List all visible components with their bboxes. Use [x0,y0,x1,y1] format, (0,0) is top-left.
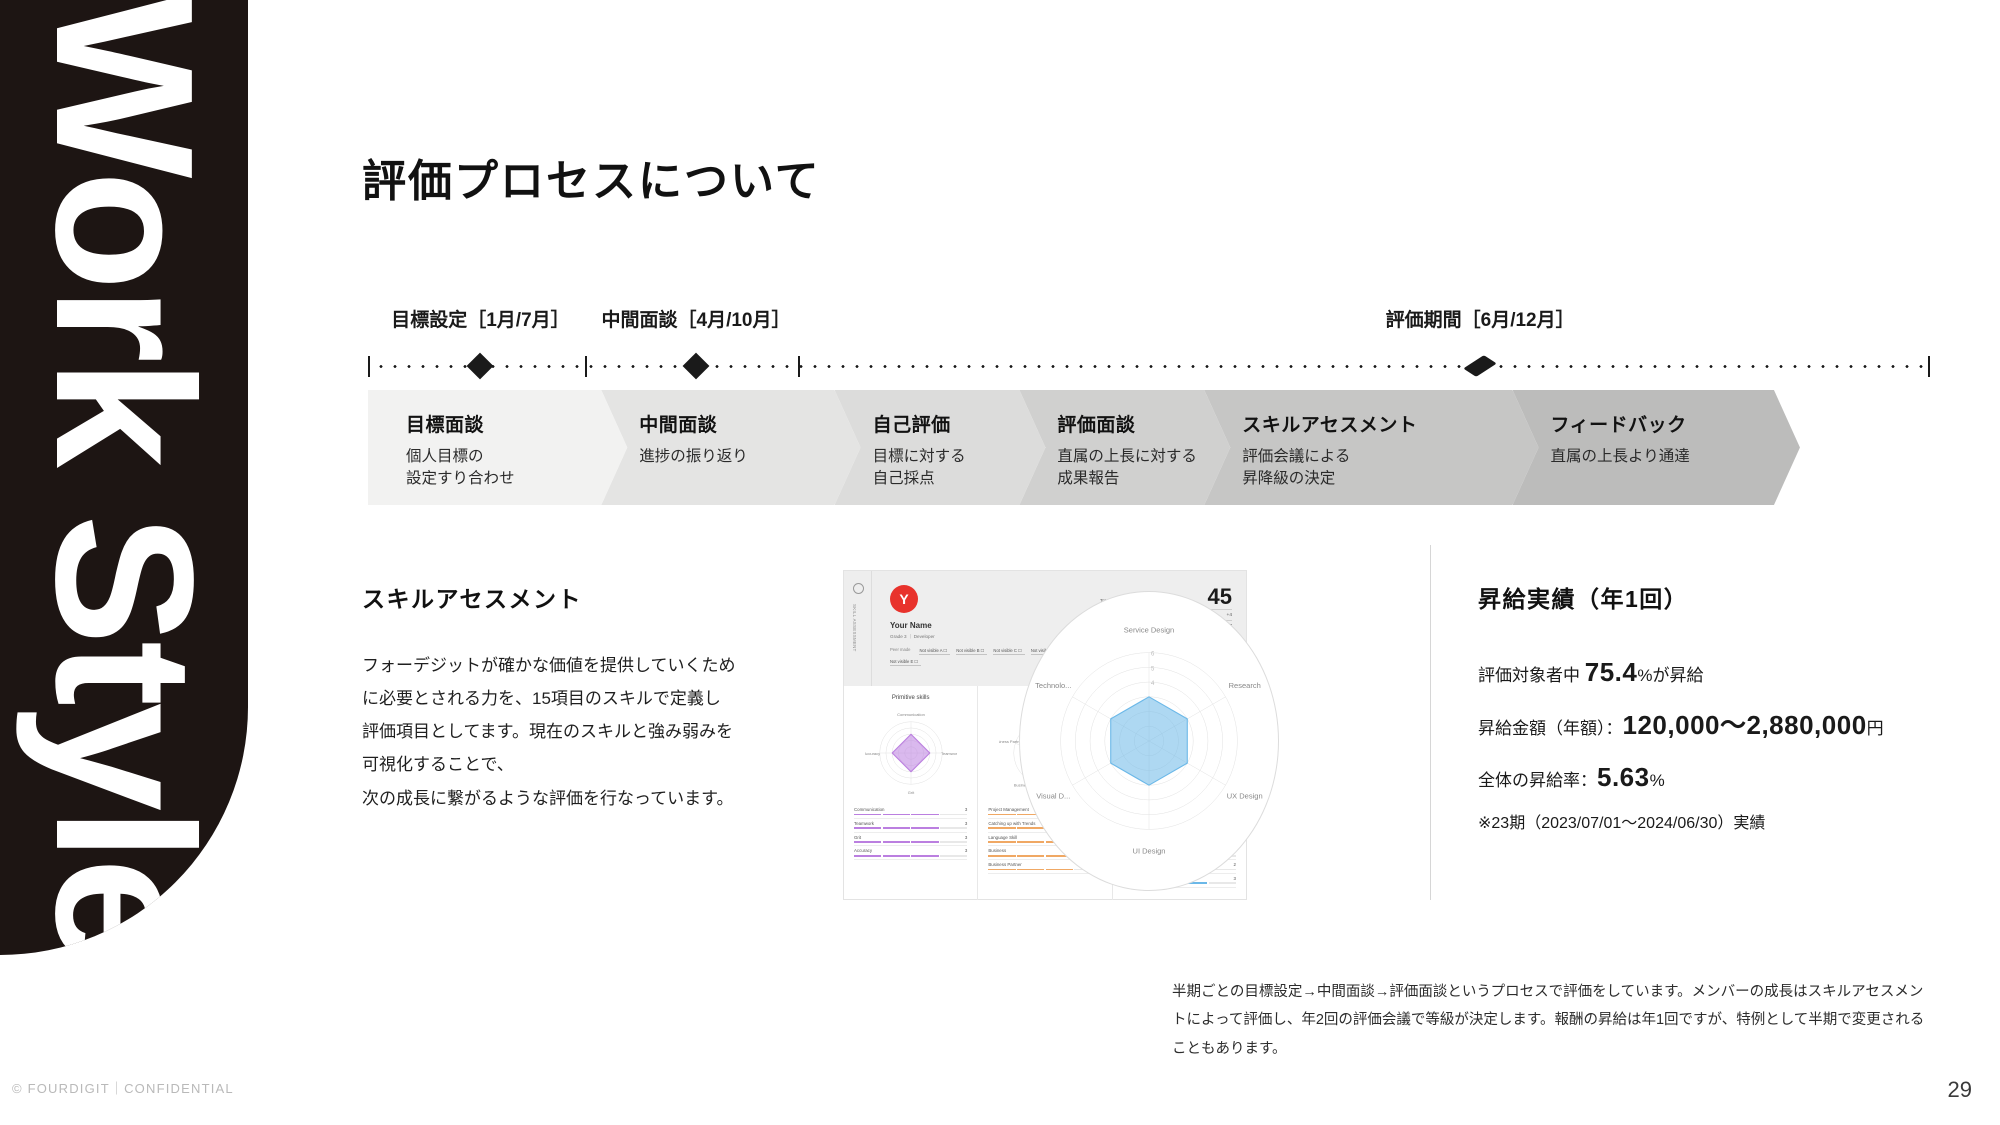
timeline-axis [368,355,1930,377]
skill-item: Visual Design2 [1123,860,1236,874]
skill-item-list: Project Management3Catching up with Tren… [988,805,1101,874]
skill-item-value: 3 [965,807,967,812]
skill-item-name: Catching up with Trends [988,821,1035,826]
timeline-label-2: 評価期間［6月/12月］ [1386,305,1575,332]
radar-axis-label: Business Partner [999,739,1024,744]
radar-axis-label: Service Design [1166,712,1193,717]
timeline-label-1: 中間面談［4月/10月］ [602,305,791,332]
timeline-tick-2 [798,356,800,377]
rail-label: SKILL ASSESSMENT [852,604,857,652]
skill-item-value: 3 [1099,807,1101,812]
skill-panel-title: Creative skills [1123,695,1236,701]
raise-result-row-1: 昇給金額（年額）：120,000〜2,880,000円 [1478,703,1978,749]
peer-chip-list: Peer madeNot visible A ☐Not visible B ☐N… [890,647,1065,666]
skill-item-bars [988,869,1101,871]
score-row-value: 7 [1229,624,1232,629]
skill-assessment-body: フォーデジットが確かな価値を提供していくため に必要とされる力を、15項目のスキ… [362,649,792,815]
process-step-title: 自己評価 [873,410,1046,437]
skill-item-bars [854,827,967,829]
skill-item: Technology3 [1123,874,1236,888]
skill-item-bars [988,814,1101,816]
avatar: Y [890,585,918,613]
skill-assessment-section: スキルアセスメント フォーデジットが確かな価値を提供していくため に必要とされる… [362,580,792,815]
skill-item-value: 3 [965,848,967,853]
raise-results-heading: 昇給実績（年1回） [1478,580,1978,614]
brand-vertical-text: Work Style [26,0,222,955]
timeline-diamond-marker-1 [683,353,710,380]
score-note: Evaluation by profile is based on assess… [1100,637,1232,642]
radar-polygon [1163,734,1201,778]
skill-item-name: UI Design [1123,848,1142,853]
skill-item-value: 3 [1099,862,1101,867]
radar-svg: CommunicationTeamworkGritAccuracy [865,707,957,799]
skill-item: Language Skill3 [988,833,1101,847]
skill-item-value: 3 [1099,821,1101,826]
raise-row-prefix: 昇給金額（年額）： [1478,719,1623,738]
process-step-title: 目標面談 [406,410,627,437]
skill-item-name: Research [1123,821,1142,826]
raise-row-suffix: %が昇給 [1637,666,1703,685]
skill-item-bars [1123,869,1236,871]
skill-item: Teamwork3 [854,819,967,833]
process-step-desc: 目標に対する 自己採点 [873,446,1046,491]
skill-item-name: Language Skill [988,835,1017,840]
skill-panel-1: Primitive skillsCommunicationTeamworkGri… [844,686,978,900]
radar-axis-label: Teamwork [941,751,957,756]
process-step-3: 自己評価目標に対する 自己採点 [835,390,1046,505]
radar-axis-label: Grit [907,790,914,795]
peer-chip-3: Not visible D ☐ [1031,647,1062,655]
skill-item-bars [1123,827,1236,829]
skill-item-name: Accuracy [854,848,872,853]
skill-item-value: 3 [1099,835,1101,840]
process-step-1: 目標面談個人目標の 設定すり合わせ [368,390,627,505]
screenshot-sidebar-rail: SKILL ASSESSMENT [844,571,872,686]
timeline-diamond-marker-2 [1463,355,1496,377]
process-step-4: 評価面談直属の上長に対する 成果報告 [1019,390,1230,505]
score-row-0: Primary+4 [1100,610,1232,621]
skill-item-value: 3 [965,835,967,840]
skill-item-value: 3 [1234,876,1236,881]
radar-svg: Service DesignResearchUX DesignUI Design… [1133,707,1225,799]
peer-chip-0: Not visible A ☐ [919,647,950,655]
raise-row-suffix: 円 [1867,719,1884,738]
skill-item: Business Partner3 [988,860,1101,874]
skill-panel-2: Basic skillsProject ManagementPlanningLa… [978,686,1112,900]
radar-axis-label: Visual Design [1133,771,1157,776]
skill-panel-radar: Project ManagementPlanningLanguage Skill… [988,705,1101,801]
vertical-divider [1430,545,1431,900]
timeline: 目標設定［1月/7月］中間面談［4月/10月］評価期間［6月/12月］ [368,305,1930,375]
skill-item-name: Business [988,848,1006,853]
timeline-tick-1 [585,356,587,377]
slide-root: Work Style 評価プロセスについて 目標設定［1月/7月］中間面談［4月… [0,0,2000,1125]
skill-panel-radar: Service DesignResearchUX DesignUI Design… [1123,705,1236,801]
clock-icon [853,583,864,594]
skill-item-value: 3 [1099,848,1101,853]
radar-axis-label: UX Design [1204,771,1223,776]
skill-panel-radar: CommunicationTeamworkGritAccuracy [854,705,967,801]
skill-item-bars [1123,814,1236,816]
screenshot-skill-panels: Primitive skillsCommunicationTeamworkGri… [844,686,1246,900]
skill-item: Communication3 [854,805,967,819]
screenshot-scores: Total 45 Primary+4Rough indicator7 Evalu… [1100,587,1232,642]
radar-axis-label: Business [1014,783,1030,788]
skill-item-bars [988,855,1101,857]
skill-item-name: Business Partner [988,862,1021,867]
raise-result-row-2: 全体の昇給率：5.63% [1478,755,1978,801]
peer-chip-4: Not visible E ☐ [890,658,921,666]
skill-item-bars [1123,882,1236,884]
skill-panel-title: Primitive skills [854,695,967,701]
process-step-5: スキルアセスメント評価会議による 昇降級の決定 [1204,390,1538,505]
page-number: 29 [1948,1077,1972,1103]
page-title: 評価プロセスについて [362,145,821,209]
raise-row-value: 5.63 [1597,762,1650,792]
raise-results-note: ※23期（2023/07/01〜2024/06/30）実績 [1478,809,1978,833]
footer-confidential: © FOURDIGIT｜CONFIDENTIAL [12,1078,234,1097]
timeline-tick-3 [1928,356,1930,377]
radar-polygon [1021,728,1069,773]
radar-axis-label: Communication [897,712,925,717]
peer-chip-2: Not visible C ☐ [993,647,1024,655]
skill-item-value: 3 [965,821,967,826]
score-row-1: Rough indicator7 [1100,621,1232,632]
skill-item-bars [1123,855,1236,857]
skill-item-list: Service DesignResearchUX DesignUI Design… [1123,805,1236,888]
skill-item-bars [1123,841,1236,843]
process-step-desc: 進捗の振り返り [639,446,860,468]
radar-axis-label: Research [1205,731,1222,736]
skill-panel-3: Creative skillsService DesignResearchUX … [1113,686,1246,900]
skill-item-name: UX Design [1123,835,1144,840]
radar-axis-label: UI Design [1171,790,1189,795]
skill-item-value: 2 [1234,862,1236,867]
skill-assessment-heading: スキルアセスメント [362,580,792,614]
skill-item: Catching up with Trends3 [988,819,1101,833]
skill-item: Research [1123,819,1236,833]
skill-item: Service Design [1123,805,1236,819]
skill-item-bars [854,841,967,843]
skill-item: Business3 [988,846,1101,860]
skill-panel-title: Basic skills [988,695,1101,701]
process-step-desc: 直属の上長より通達 [1551,446,1800,468]
skill-item-bars [854,814,967,816]
radar-axis-label: Planning [1074,739,1090,744]
product-screenshot: SKILL ASSESSMENT Y Your Name Grade 3 ｜ D… [843,570,1247,900]
brand-panel: Work Style [0,0,248,955]
raise-row-prefix: 全体の昇給率： [1478,771,1597,790]
score-row-label: Primary [1100,613,1117,618]
skill-item: Project Management3 [988,805,1101,819]
skill-item: UI Design [1123,846,1236,860]
raise-results-section: 昇給実績（年1回） 評価対象者中 75.4%が昇給昇給金額（年額）：120,00… [1478,580,1978,833]
process-step-6: フィードバック直属の上長より通達 [1513,390,1800,505]
skill-item-name: Service Design [1123,807,1153,812]
timeline-tick-0 [368,356,370,377]
raise-row-prefix: 評価対象者中 [1478,666,1585,685]
total-score-value: 45 [1208,587,1232,607]
skill-item-name: Project Management [988,807,1029,812]
raise-results-list: 評価対象者中 75.4%が昇給昇給金額（年額）：120,000〜2,880,00… [1478,650,1978,801]
skill-item: Grit3 [854,833,967,847]
peer-chip-label: Peer made [890,647,910,655]
radar-axis-label: Language Skill [1055,783,1081,788]
radar-axis-label: Accuracy [865,751,880,756]
process-step-title: 評価面談 [1057,410,1230,437]
radar-axis-label: Project Management [1027,712,1065,717]
skill-item-bars [854,855,967,857]
timeline-diamond-marker-0 [467,353,494,380]
skill-item-bars [988,841,1101,843]
timeline-dotted-line [374,365,1924,368]
total-score-label: Total [1100,599,1110,607]
skill-item-list: Communication3Teamwork3Grit3Accuracy3 [854,805,967,860]
radar-svg: Project ManagementPlanningLanguage Skill… [999,707,1091,799]
raise-row-suffix: % [1650,771,1665,790]
screenshot-header: SKILL ASSESSMENT Y Your Name Grade 3 ｜ D… [844,571,1246,686]
skill-item-name: Visual Design [1123,862,1150,867]
skill-item-name: Technology [1123,876,1145,881]
raise-result-row-0: 評価対象者中 75.4%が昇給 [1478,650,1978,696]
skill-item: Accuracy3 [854,846,967,860]
process-step-2: 中間面談進捗の振り返り [601,390,860,505]
score-sub-rows: Primary+4Rough indicator7 [1100,610,1232,632]
process-step-title: 中間面談 [639,410,860,437]
peer-chip-1: Not visible B ☐ [956,647,987,655]
score-row-label: Rough indicator [1100,624,1134,629]
process-step-title: スキルアセスメント [1242,410,1538,437]
bottom-caption: 半期ごとの目標設定→中間面談→評価面談というプロセスで評価をしています。メンバー… [1172,978,1932,1063]
process-chevron-bar: 目標面談個人目標の 設定すり合わせ中間面談進捗の振り返り自己評価目標に対する 自… [368,390,1930,505]
score-row-value: +4 [1227,613,1232,618]
process-step-desc: 直属の上長に対する 成果報告 [1057,446,1230,491]
total-score-row: Total 45 [1100,587,1232,610]
timeline-label-0: 目標設定［1月/7月］ [391,305,569,332]
process-step-title: フィードバック [1551,410,1800,437]
process-step-desc: 評価会議による 昇降級の決定 [1242,446,1538,491]
skill-item-bars [988,827,1101,829]
skill-item-name: Communication [854,807,885,812]
raise-row-value: 120,000〜2,880,000 [1623,710,1867,740]
radar-axis-label: Technology [1135,731,1155,736]
skill-item: UX Design [1123,833,1236,847]
skill-item-name: Teamwork [854,821,874,826]
raise-row-value: 75.4 [1585,657,1638,687]
process-step-desc: 個人目標の 設定すり合わせ [406,446,627,491]
skill-item-name: Grit [854,835,861,840]
